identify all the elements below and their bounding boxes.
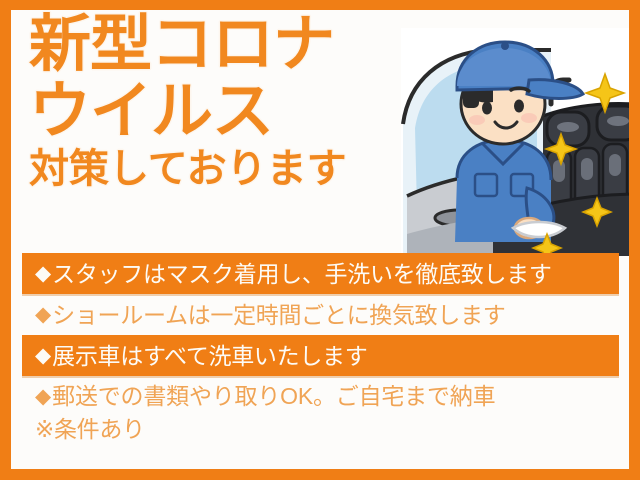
list-item-label: 郵送での書類やり取りOK。ご自宅まで納車	[52, 379, 495, 413]
covid-measures-banner: 新型コロナ ウイルス 対策しております ◆ スタッフはマスク着用し、手洗いを徹底…	[0, 0, 640, 480]
measures-list: ◆ スタッフはマスク着用し、手洗いを徹底致します ◆ ショールームは一定時間ごと…	[11, 253, 629, 452]
list-item-label: ショールームは一定時間ごとに換気致します	[52, 298, 505, 332]
page-title: 新型コロナ ウイルス 対策しております	[27, 12, 457, 192]
diamond-bullet-icon: ◆	[35, 263, 51, 284]
headline-line-3: 対策しております	[29, 146, 457, 192]
headline-line-2: ウイルス	[29, 78, 457, 146]
list-item: ◆ 展示車はすべて洗車いたします	[22, 335, 619, 376]
list-item-subnote: ※条件あり	[35, 413, 629, 446]
list-item: ◆ 郵送での書類やり取りOK。ご自宅まで納車 ※条件あり	[11, 376, 629, 452]
diamond-bullet-icon: ◆	[35, 304, 51, 325]
list-item: ◆ ショールームは一定時間ごとに換気致します	[11, 294, 629, 335]
banner-inner-panel: 新型コロナ ウイルス 対策しております ◆ スタッフはマスク着用し、手洗いを徹底…	[11, 10, 629, 469]
list-item-label: スタッフはマスク着用し、手洗いを徹底致します	[52, 257, 551, 291]
list-item-label: 展示車はすべて洗車いたします	[52, 339, 367, 373]
diamond-bullet-icon: ◆	[35, 386, 51, 407]
headline-line-1: 新型コロナ	[29, 12, 457, 78]
diamond-bullet-icon: ◆	[35, 345, 51, 366]
list-item: ◆ スタッフはマスク着用し、手洗いを徹底致します	[22, 253, 619, 294]
